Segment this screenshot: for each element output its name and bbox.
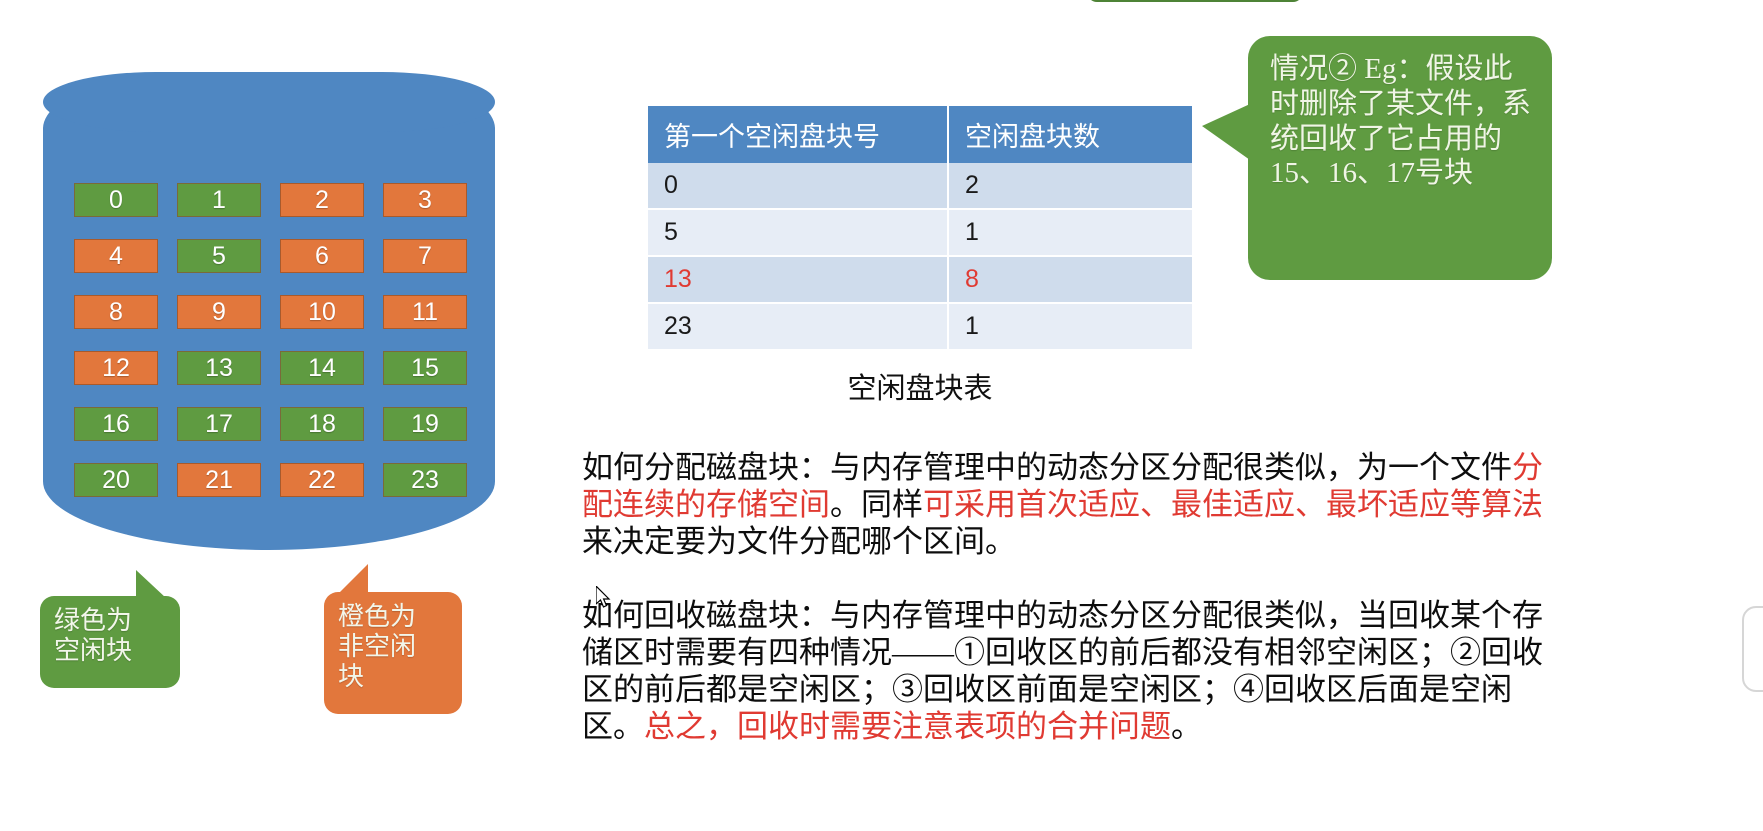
disk-block-15: 15 xyxy=(383,351,467,385)
disk-block-10: 10 xyxy=(280,295,364,329)
disk-block-3: 3 xyxy=(383,183,467,217)
alloc-text-3: 。同样 xyxy=(830,487,923,522)
cylinder-top-surface xyxy=(43,72,495,132)
disk-block-1: 1 xyxy=(177,183,261,217)
disk-block-14: 14 xyxy=(280,351,364,385)
disk-block-18: 18 xyxy=(280,407,364,441)
clipped-top-callout xyxy=(1087,0,1303,2)
disk-block-2: 2 xyxy=(280,183,364,217)
disk-block-12: 12 xyxy=(74,351,158,385)
disk-block-8: 8 xyxy=(74,295,158,329)
alloc-text-5: 来决定要为文件分配哪个区间。 xyxy=(582,524,1016,559)
clipped-edge-shape xyxy=(1742,606,1763,692)
disk-block-4: 4 xyxy=(74,239,158,273)
table-row: 231 xyxy=(648,303,1192,350)
legend-free-tail xyxy=(136,570,166,598)
disk-block-17: 17 xyxy=(177,407,261,441)
table-header-count: 空闲盘块数 xyxy=(948,106,1192,163)
disk-block-6: 6 xyxy=(280,239,364,273)
disk-diagram: 01234567891011121314151617181920212223 绿… xyxy=(0,0,560,831)
table-row: 51 xyxy=(648,209,1192,256)
table-row: 138 xyxy=(648,256,1192,303)
reclaim-text-2-red: 总之，回收时需要注意表项的合并问题 xyxy=(644,709,1171,744)
reclaim-text-3: 。 xyxy=(1171,709,1202,744)
table-header-first-block: 第一个空闲盘块号 xyxy=(648,106,948,163)
cell-count: 1 xyxy=(948,303,1192,350)
legend-free-callout: 绿色为空闲块 xyxy=(40,596,180,688)
cell-first-block: 13 xyxy=(648,256,948,303)
cell-count: 2 xyxy=(948,163,1192,209)
disk-block-13: 13 xyxy=(177,351,261,385)
legend-used-label: 橙色为非空闲块 xyxy=(338,602,416,691)
disk-block-0: 0 xyxy=(74,183,158,217)
alloc-text-4-red: 可采用首次适应、最佳适应、最坏适应等算法 xyxy=(923,487,1543,522)
mouse-cursor-icon xyxy=(596,586,612,610)
disk-block-21: 21 xyxy=(177,463,261,497)
table-header-row: 第一个空闲盘块号 空闲盘块数 xyxy=(648,106,1192,163)
legend-used-callout: 橙色为非空闲块 xyxy=(324,592,462,714)
cell-first-block: 0 xyxy=(648,163,948,209)
legend-free-label: 绿色为空闲块 xyxy=(54,606,132,665)
disk-block-9: 9 xyxy=(177,295,261,329)
disk-block-7: 7 xyxy=(383,239,467,273)
example-callout-tail xyxy=(1202,104,1250,160)
table-caption: 空闲盘块表 xyxy=(648,365,1192,407)
free-block-table: 第一个空闲盘块号 空闲盘块数 0251138231 xyxy=(648,106,1192,351)
legend-used-tail xyxy=(338,564,368,594)
cell-first-block: 5 xyxy=(648,209,948,256)
cell-count: 1 xyxy=(948,209,1192,256)
disk-block-11: 11 xyxy=(383,295,467,329)
example-callout-text: 情况② Eg：假设此时删除了某文件，系统回收了它占用的 15、16、17号块 xyxy=(1270,53,1531,189)
cell-count: 8 xyxy=(948,256,1192,303)
table-row: 02 xyxy=(648,163,1192,209)
disk-block-19: 19 xyxy=(383,407,467,441)
paragraph-allocation: 如何分配磁盘块：与内存管理中的动态分区分配很类似，为一个文件分配连续的存储空间。… xyxy=(582,449,1550,560)
disk-block-grid: 01234567891011121314151617181920212223 xyxy=(74,183,466,497)
disk-block-22: 22 xyxy=(280,463,364,497)
example-callout: 情况② Eg：假设此时删除了某文件，系统回收了它占用的 15、16、17号块 xyxy=(1248,36,1552,280)
disk-block-16: 16 xyxy=(74,407,158,441)
paragraph-reclamation: 如何回收磁盘块：与内存管理中的动态分区分配很类似，当回收某个存储区时需要有四种情… xyxy=(582,597,1550,745)
disk-block-20: 20 xyxy=(74,463,158,497)
alloc-text-1: 如何分配磁盘块：与内存管理中的动态分区分配很类似，为一个文件 xyxy=(582,450,1512,485)
disk-block-5: 5 xyxy=(177,239,261,273)
disk-block-23: 23 xyxy=(383,463,467,497)
cell-first-block: 23 xyxy=(648,303,948,350)
